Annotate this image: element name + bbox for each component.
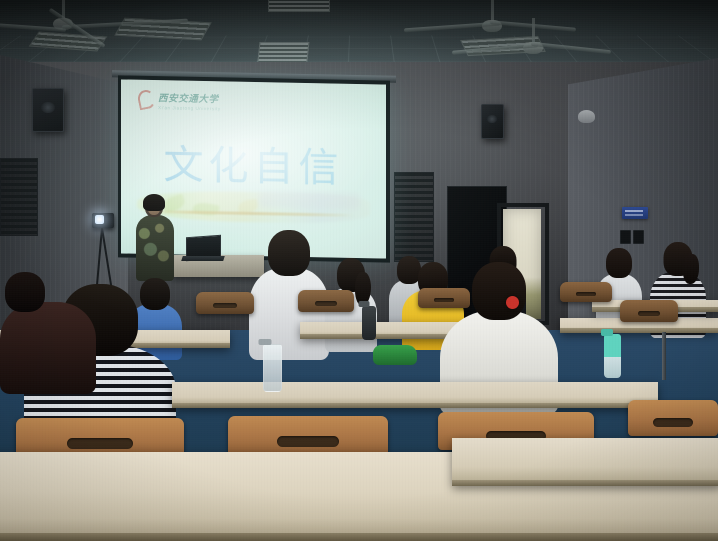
chair-handle-slot xyxy=(315,301,337,306)
wall-speaker xyxy=(481,104,504,139)
thermos-cap xyxy=(359,301,370,307)
logo-english-text: Xi'an Jiaotong University xyxy=(158,105,221,111)
wall-switch-panel[interactable] xyxy=(620,230,631,244)
laptop-base xyxy=(181,256,225,261)
chair-handle-slot xyxy=(638,311,660,316)
red-hair-tie xyxy=(506,296,519,309)
bottle-cap xyxy=(601,329,613,336)
desk-edge xyxy=(0,533,718,541)
crest-icon xyxy=(136,88,157,110)
presenter xyxy=(134,196,176,280)
wall-light-fixture xyxy=(578,110,595,123)
teal-water-bottle[interactable] xyxy=(604,334,621,378)
torso xyxy=(249,268,329,360)
desk-leg xyxy=(662,332,666,380)
wall-switch-panel[interactable] xyxy=(633,230,644,244)
camera-light xyxy=(95,215,104,224)
chair[interactable] xyxy=(298,290,354,312)
camera-operator xyxy=(0,272,96,392)
chair-handle-slot xyxy=(67,438,133,449)
wall-louver-panel xyxy=(394,172,434,262)
lecture-hall-photo: 西安交通大学 Xi'an Jiaotong University 文化自信 xyxy=(0,0,718,541)
logo-chinese-text: 西安交通大学 xyxy=(158,90,221,105)
desk-edge xyxy=(560,328,718,333)
head xyxy=(268,230,310,276)
desk xyxy=(172,382,658,408)
thermos-dark[interactable] xyxy=(362,306,376,340)
chair[interactable] xyxy=(628,400,718,436)
torso xyxy=(0,302,96,394)
chair[interactable] xyxy=(620,300,678,322)
foreground-desk-right xyxy=(452,438,718,486)
ponytail xyxy=(683,254,699,284)
chair-handle-slot xyxy=(213,303,237,308)
head xyxy=(606,248,632,278)
wall-speaker xyxy=(32,88,64,132)
chair-handle-slot xyxy=(277,436,339,447)
presenter-torso xyxy=(136,215,174,281)
head xyxy=(472,262,526,320)
presenter-hair xyxy=(143,194,165,211)
chair-handle-slot xyxy=(576,292,596,296)
head xyxy=(5,272,45,312)
chair[interactable] xyxy=(560,282,612,302)
chair[interactable] xyxy=(228,416,388,456)
wall-louver-panel xyxy=(0,158,38,236)
chair[interactable] xyxy=(196,292,254,314)
wall-sign xyxy=(622,207,648,219)
bottle-cap xyxy=(259,339,272,345)
chair-handle-slot xyxy=(653,418,693,427)
desk-edge xyxy=(452,480,718,486)
green-bag[interactable] xyxy=(373,345,417,365)
clear-water-bottle[interactable] xyxy=(263,344,282,392)
desk-edge xyxy=(172,403,658,408)
faint-slide-text xyxy=(259,191,360,209)
university-logo: 西安交通大学 Xi'an Jiaotong University xyxy=(138,90,221,112)
slide-title: 文化自信 xyxy=(121,131,386,194)
